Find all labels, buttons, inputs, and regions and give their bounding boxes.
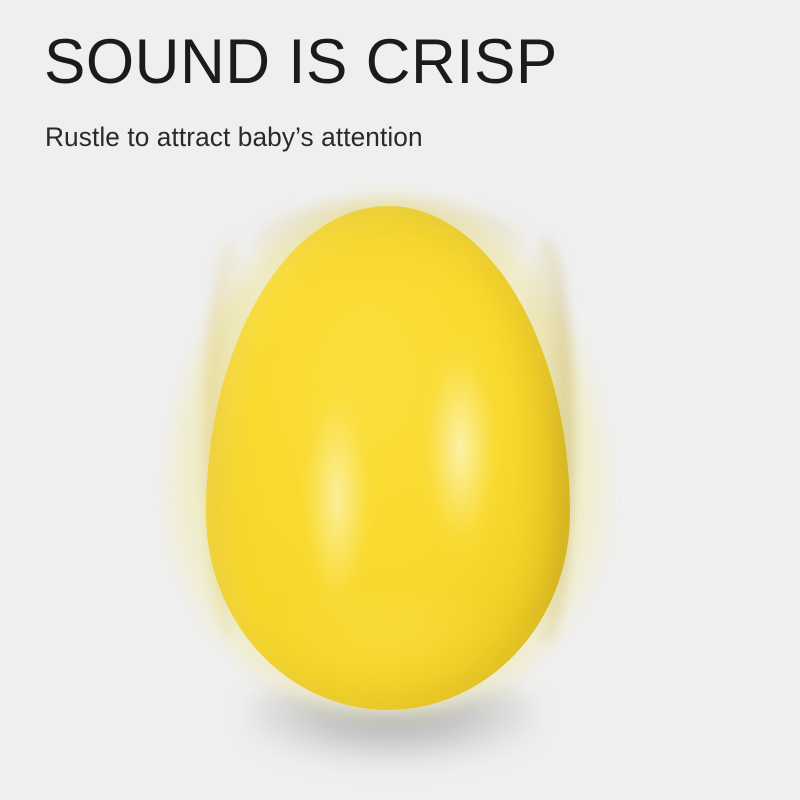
page-title: SOUND IS CRISP	[44, 30, 734, 94]
page-subtitle: Rustle to attract baby’s attention	[45, 122, 737, 154]
headline-block: SOUND IS CRISP Rustle to attract baby’s …	[44, 30, 744, 154]
product-feature-banner: SOUND IS CRISP Rustle to attract baby’s …	[0, 0, 800, 800]
